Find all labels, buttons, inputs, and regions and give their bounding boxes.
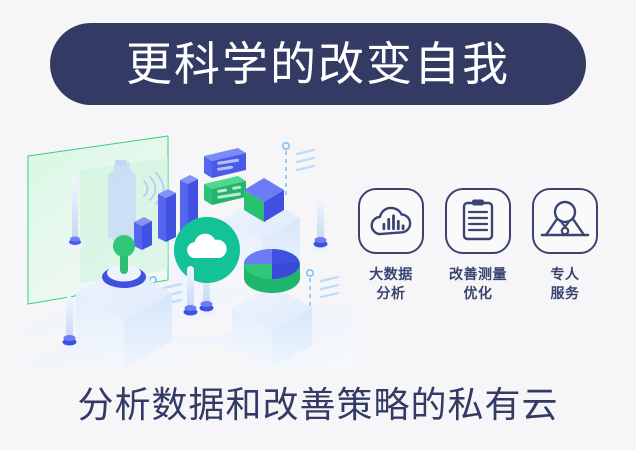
feature-label-line1: 改善测量	[449, 266, 507, 282]
feature-label-measurement: 改善测量 优化	[449, 265, 507, 303]
feature-label-line1: 大数据	[369, 266, 413, 282]
bottle-silhouette	[108, 160, 136, 241]
page-caption: 分析数据和改善策略的私有云	[0, 383, 636, 426]
page-title: 更科学的改变自我	[126, 41, 510, 87]
green-label-card	[204, 176, 246, 205]
clipboard-icon	[458, 198, 498, 244]
blue-label-card	[204, 148, 246, 178]
feature-item-support[interactable]: 专人 服务	[526, 188, 604, 303]
feature-list: 大数据 分析 改善测量 优化	[352, 188, 604, 333]
isometric-data-illustration	[18, 118, 354, 368]
feature-icon-frame	[532, 188, 598, 254]
feature-icon-frame	[445, 188, 511, 254]
feature-label-big-data: 大数据 分析	[369, 265, 413, 303]
headline-banner: 更科学的改变自我	[50, 23, 586, 105]
feature-label-support: 专人 服务	[551, 265, 580, 303]
feature-label-line2: 优化	[449, 284, 507, 303]
feature-item-measurement[interactable]: 改善测量 优化	[439, 188, 517, 303]
blue-pin-marker-right	[311, 200, 331, 254]
feature-label-line1: 专人	[551, 266, 580, 282]
feature-item-big-data[interactable]: 大数据 分析	[352, 188, 430, 303]
support-agent-icon	[540, 199, 590, 243]
poster-canvas: 更科学的改变自我	[0, 0, 636, 450]
cloud-bar-chart-icon	[368, 201, 414, 241]
pie-chart-3d	[244, 249, 300, 293]
dashed-marker-line-top-right	[283, 143, 314, 196]
feature-label-line2: 服务	[551, 284, 580, 303]
feature-label-line2: 分析	[369, 284, 413, 303]
feature-icon-frame	[358, 188, 424, 254]
